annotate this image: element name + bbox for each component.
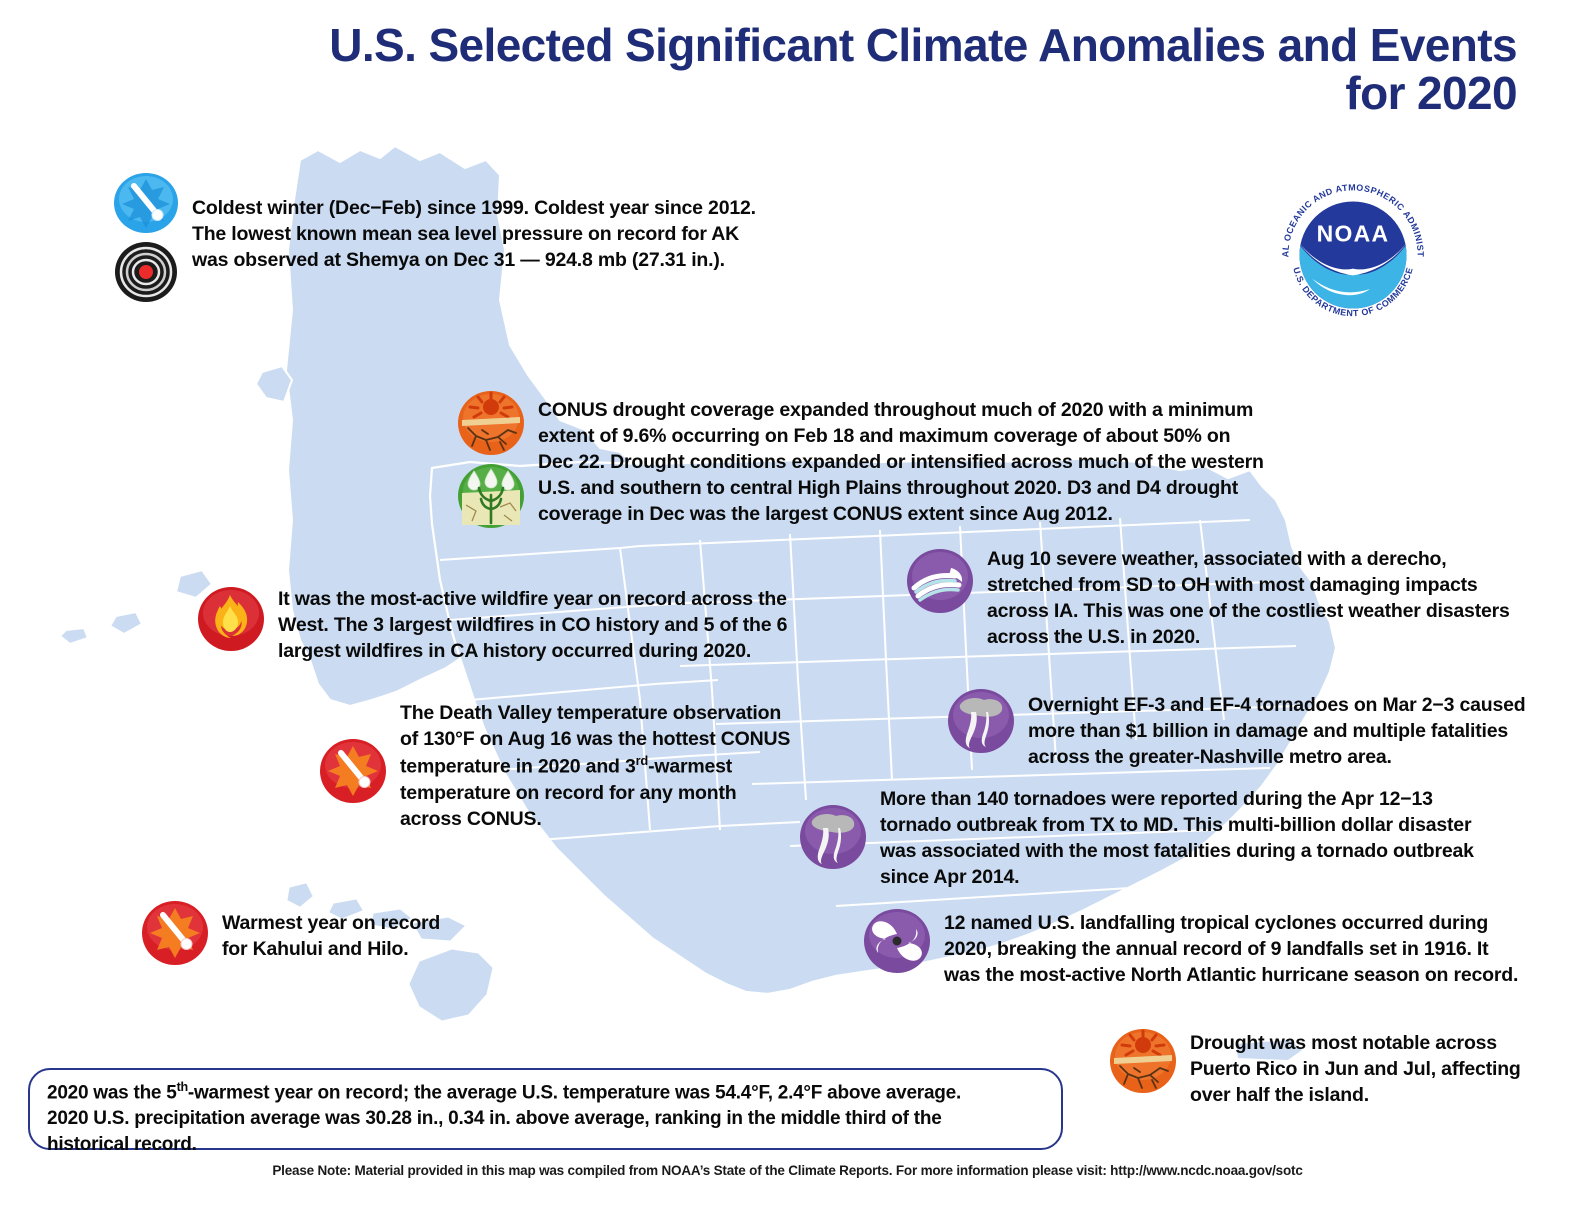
callout-conus-drought: CONUS drought coverage expanded througho… <box>456 390 1336 534</box>
callout-line: CONUS drought coverage expanded througho… <box>538 397 1264 423</box>
drought-icon <box>1108 1028 1178 1099</box>
callout-line: extent of 9.6% occurring on Feb 18 and m… <box>538 423 1264 449</box>
callout-line: largest wildfires in CA history occurred… <box>278 638 787 664</box>
callout-line: was associated with the most fatalities … <box>880 838 1474 864</box>
callout-icons <box>456 390 526 534</box>
callout-line: Overnight EF-3 and EF-4 tornadoes on Mar… <box>1028 692 1525 718</box>
callout-line: 12 named U.S. landfalling tropical cyclo… <box>944 910 1518 936</box>
callout-text: 12 named U.S. landfalling tropical cyclo… <box>944 910 1518 988</box>
callout-line: West. The 3 largest wildfires in CO hist… <box>278 612 787 638</box>
callout-death-valley-heat: The Death Valley temperature observation… <box>318 700 878 832</box>
callout-line: across the U.S. in 2020. <box>987 624 1510 650</box>
hurricane-icon <box>862 908 932 979</box>
callout-line: 2020, breaking the annual record of 9 la… <box>944 936 1518 962</box>
annual-summary-box: 2020 was the 5th-warmest year on record;… <box>28 1068 1063 1150</box>
callout-line: more than $1 billion in damage and multi… <box>1028 718 1525 744</box>
callout-puerto-rico-drought: Drought was most notable across Puerto R… <box>1108 1028 1558 1108</box>
callout-hawaii-warm: Warmest year on record for Kahului and H… <box>140 900 600 971</box>
callout-line: over half the island. <box>1190 1082 1521 1108</box>
callout-line: across CONUS. <box>400 806 790 832</box>
noaa-logo-wordmark: NOAA <box>1317 220 1390 246</box>
low-pressure-icon <box>112 241 180 308</box>
callout-line: More than 140 tornadoes were reported du… <box>880 786 1474 812</box>
callout-line: Warmest year on record <box>222 910 440 936</box>
callout-text: Warmest year on record for Kahului and H… <box>222 910 440 962</box>
callout-derecho: Aug 10 severe weather, associated with a… <box>905 548 1555 650</box>
callout-icons <box>318 700 388 809</box>
callout-line: coverage in Dec was the largest CONUS ex… <box>538 501 1264 527</box>
callout-line: Coldest winter (Dec−Feb) since 1999. Col… <box>192 195 756 221</box>
footer-note: Please Note: Material provided in this m… <box>0 1163 1575 1178</box>
callout-text: Coldest winter (Dec−Feb) since 1999. Col… <box>192 195 756 273</box>
callout-line: temperature on record for any month <box>400 780 790 806</box>
callout-wildfire-west: It was the most-active wildfire year on … <box>196 586 846 664</box>
callout-text: Drought was most notable across Puerto R… <box>1190 1030 1521 1108</box>
callout-line: It was the most-active wildfire year on … <box>278 586 787 612</box>
callout-tropical-cyclones: 12 named U.S. landfalling tropical cyclo… <box>862 908 1562 988</box>
callout-line: Dec 22. Drought conditions expanded or i… <box>538 449 1264 475</box>
summary-line: 2020 U.S. precipitation average was 30.2… <box>47 1106 1044 1132</box>
page-title: U.S. Selected Significant Climate Anomal… <box>0 22 1545 118</box>
callout-text: The Death Valley temperature observation… <box>400 700 790 832</box>
summary-line: historical record. <box>47 1132 1044 1158</box>
callout-icons <box>140 900 210 971</box>
callout-icons <box>1108 1028 1178 1099</box>
callout-icons <box>112 172 180 308</box>
callout-line: across IA. This was one of the costliest… <box>987 598 1510 624</box>
callout-line: since Apr 2014. <box>880 864 1474 890</box>
annual-summary-text: 2020 was the 5th-warmest year on record;… <box>47 1079 1044 1158</box>
callout-alaska-cold: Coldest winter (Dec−Feb) since 1999. Col… <box>112 172 832 308</box>
callout-icons <box>798 786 868 875</box>
cold-thermometer-icon <box>112 172 180 239</box>
callout-line: tornado outbreak from TX to MD. This mul… <box>880 812 1474 838</box>
tornado-icon <box>946 688 1016 759</box>
callout-line: stretched from SD to OH with most damagi… <box>987 572 1510 598</box>
callout-text: CONUS drought coverage expanded througho… <box>538 397 1264 527</box>
callout-line: for Kahului and Hilo. <box>222 936 440 962</box>
callout-icons <box>946 688 1016 759</box>
callout-line: across the greater-Nashville metro area. <box>1028 744 1525 770</box>
callout-line: Puerto Rico in Jun and Jul, affecting <box>1190 1056 1521 1082</box>
callout-line: temperature in 2020 and 3rd-warmest <box>400 752 790 780</box>
severe-weather-icon <box>905 548 975 619</box>
vegetation-drought-icon <box>456 463 526 534</box>
drought-icon <box>456 390 526 461</box>
callout-line: of 130°F on Aug 16 was the hottest CONUS <box>400 726 790 752</box>
title-line-1: U.S. Selected Significant Climate Anomal… <box>0 22 1517 70</box>
callout-icons <box>862 908 932 979</box>
tornado-icon <box>798 804 868 875</box>
hot-thermometer-icon <box>318 738 388 809</box>
hot-thermometer-icon <box>140 900 210 971</box>
title-line-2: for 2020 <box>0 70 1517 118</box>
callout-line: The Death Valley temperature observation <box>400 700 790 726</box>
callout-line: Drought was most notable across <box>1190 1030 1521 1056</box>
callout-line: Aug 10 severe weather, associated with a… <box>987 546 1510 572</box>
callout-april-tornado-outbreak: More than 140 tornadoes were reported du… <box>798 786 1558 890</box>
callout-line: was the most-active North Atlantic hurri… <box>944 962 1518 988</box>
callout-text: Overnight EF-3 and EF-4 tornadoes on Mar… <box>1028 692 1525 770</box>
callout-icons <box>905 548 975 619</box>
callout-text: Aug 10 severe weather, associated with a… <box>987 546 1510 650</box>
noaa-logo: NOAA NATIONAL OCEANIC AND ATMOSPHERIC AD… <box>1268 170 1438 340</box>
wildfire-icon <box>196 586 266 657</box>
callout-line: U.S. and southern to central High Plains… <box>538 475 1264 501</box>
summary-line: 2020 was the 5th-warmest year on record;… <box>47 1079 1044 1106</box>
callout-nashville-tornado: Overnight EF-3 and EF-4 tornadoes on Mar… <box>946 688 1561 770</box>
callout-line: The lowest known mean sea level pressure… <box>192 221 756 247</box>
callout-text: More than 140 tornadoes were reported du… <box>880 786 1474 890</box>
callout-text: It was the most-active wildfire year on … <box>278 586 787 664</box>
callout-line: was observed at Shemya on Dec 31 — 924.8… <box>192 247 756 273</box>
callout-icons <box>196 586 266 657</box>
